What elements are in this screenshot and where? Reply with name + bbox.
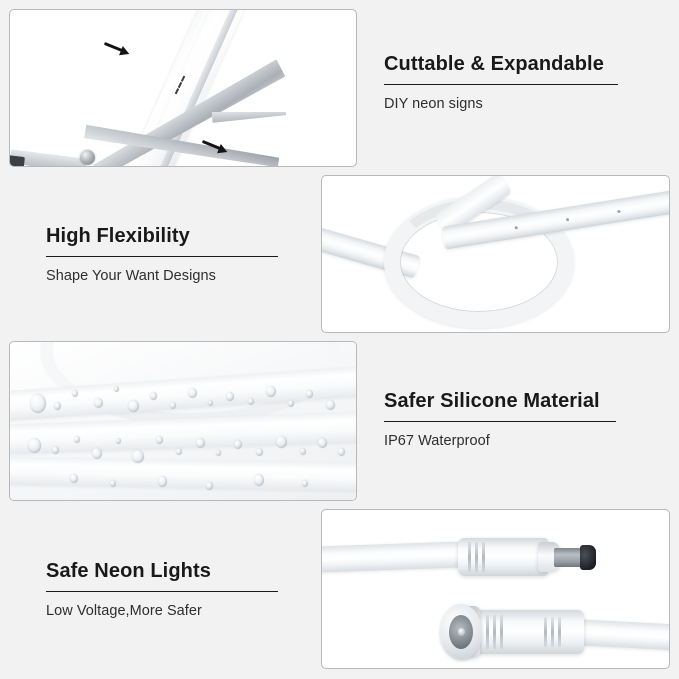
water-droplets-on-neon-strip-photo [10, 342, 356, 500]
female-connector-center-pin [458, 628, 465, 636]
feature-heading: High Flexibility [46, 224, 296, 249]
male-connector-cable [322, 541, 464, 572]
feature-text-cuttable: Cuttable & Expandable DIY neon signs [384, 52, 634, 112]
heading-underline [46, 256, 278, 257]
feature-subheading: DIY neon signs [384, 96, 634, 112]
scissors-pivot-screw [80, 150, 95, 165]
feature-image-panel-safe-lights [321, 509, 670, 669]
feature-text-safe-lights: Safe Neon Lights Low Voltage,More Safer [46, 559, 296, 619]
feature-text-silicone: Safer Silicone Material IP67 Waterproof [384, 389, 634, 449]
female-connector-housing [472, 610, 584, 654]
feature-subheading: IP67 Waterproof [384, 433, 634, 449]
product-feature-infographic: Cuttable & Expandable DIY neon signs Hig… [0, 0, 679, 679]
feature-heading: Safe Neon Lights [46, 559, 296, 584]
feature-image-panel-cuttable [9, 9, 357, 167]
heading-underline [46, 591, 278, 592]
male-connector-housing [458, 538, 548, 576]
feature-subheading: Low Voltage,More Safer [46, 603, 296, 619]
feature-image-panel-silicone [9, 341, 357, 501]
feature-heading: Safer Silicone Material [384, 389, 634, 414]
heading-underline [384, 421, 616, 422]
knotted-neon-strip-photo [322, 176, 669, 332]
male-connector-tip [580, 545, 596, 570]
feature-text-flexibility: High Flexibility Shape Your Want Designs [46, 224, 296, 284]
feature-image-panel-flexibility [321, 175, 670, 333]
feature-subheading: Shape Your Want Designs [46, 268, 296, 284]
heading-underline [384, 84, 618, 85]
dc-barrel-connectors-photo [322, 510, 669, 668]
feature-heading: Cuttable & Expandable [384, 52, 634, 77]
scissors-grip [10, 155, 25, 166]
scissors-cutting-neon-strip-photo [10, 10, 356, 166]
